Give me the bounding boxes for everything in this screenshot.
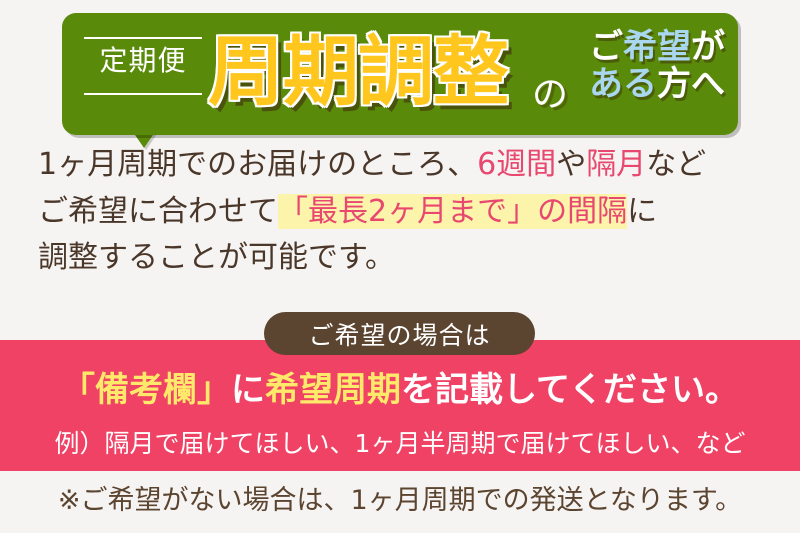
callout-main-text: 「備考欄」に希望周期を記載してください。 — [0, 362, 800, 411]
header-subtitle-line2: ある方へ — [582, 66, 732, 103]
body-l1-part2: や — [556, 147, 586, 182]
body-l1-highlight1: 6週間 — [477, 147, 556, 182]
callout-main-part1: 「備考欄」 — [61, 370, 231, 410]
badge-rule-top — [84, 37, 202, 39]
callout-pill-label: ご希望の場合は — [264, 312, 535, 355]
body-l1-highlight2: 隔月 — [586, 147, 646, 182]
header-subtitle-line1: ご希望が — [582, 29, 732, 66]
promo-banner: 定期便 周期調整 の ご希望が ある方へ 1ヶ月周期でのお届けのところ、6週間や… — [0, 0, 800, 533]
header-subtitle-l2-part2: 方へ — [657, 64, 725, 104]
badge-rule-bottom — [84, 93, 202, 95]
header-subtitle-l1-part2: 希望 — [623, 27, 691, 67]
header-title-particle: の — [532, 65, 568, 117]
footer-note: ※ご希望がない場合は、1ヶ月周期での発送となります。 — [0, 478, 800, 517]
callout-main-part3: 希望周期 — [265, 370, 401, 410]
header-bubble: 定期便 周期調整 の ご希望が ある方へ — [62, 13, 738, 135]
body-description: 1ヶ月周期でのお届けのところ、6週間や隔月など ご希望に合わせて「最長2ヶ月まで… — [0, 142, 800, 282]
body-line-1: 1ヶ月周期でのお届けのところ、6週間や隔月など — [38, 142, 762, 189]
body-l2-part1: ご希望に合わせて — [38, 194, 278, 229]
subscription-badge-label: 定期便 — [84, 47, 202, 75]
header-bubble-container: 定期便 周期調整 の ご希望が ある方へ — [0, 0, 800, 150]
body-l2-marker-highlight: 「最長2ヶ月まで」の間隔 — [278, 194, 627, 229]
callout-main-part4: を記載してください。 — [401, 370, 739, 410]
callout-main-part2: に — [231, 370, 265, 410]
header-subtitle-l1-part1: ご — [589, 27, 623, 67]
header-subtitle: ご希望が ある方へ — [582, 29, 732, 102]
body-l2-part2: に — [627, 194, 657, 229]
body-line-3: 調整することが可能です。 — [38, 235, 762, 282]
body-l1-part3: など — [646, 147, 706, 182]
header-subtitle-l2-part1: ある — [589, 64, 657, 104]
header-title: 周期調整 — [208, 27, 508, 117]
callout-example-text: 例）隔月で届けてほしい、1ヶ月半周期で届けてほしい、など — [0, 424, 800, 460]
body-l1-part1: 1ヶ月周期でのお届けのところ、 — [38, 147, 477, 182]
body-line-2: ご希望に合わせて「最長2ヶ月まで」の間隔に — [38, 189, 762, 236]
header-subtitle-l1-part3: が — [691, 27, 725, 67]
